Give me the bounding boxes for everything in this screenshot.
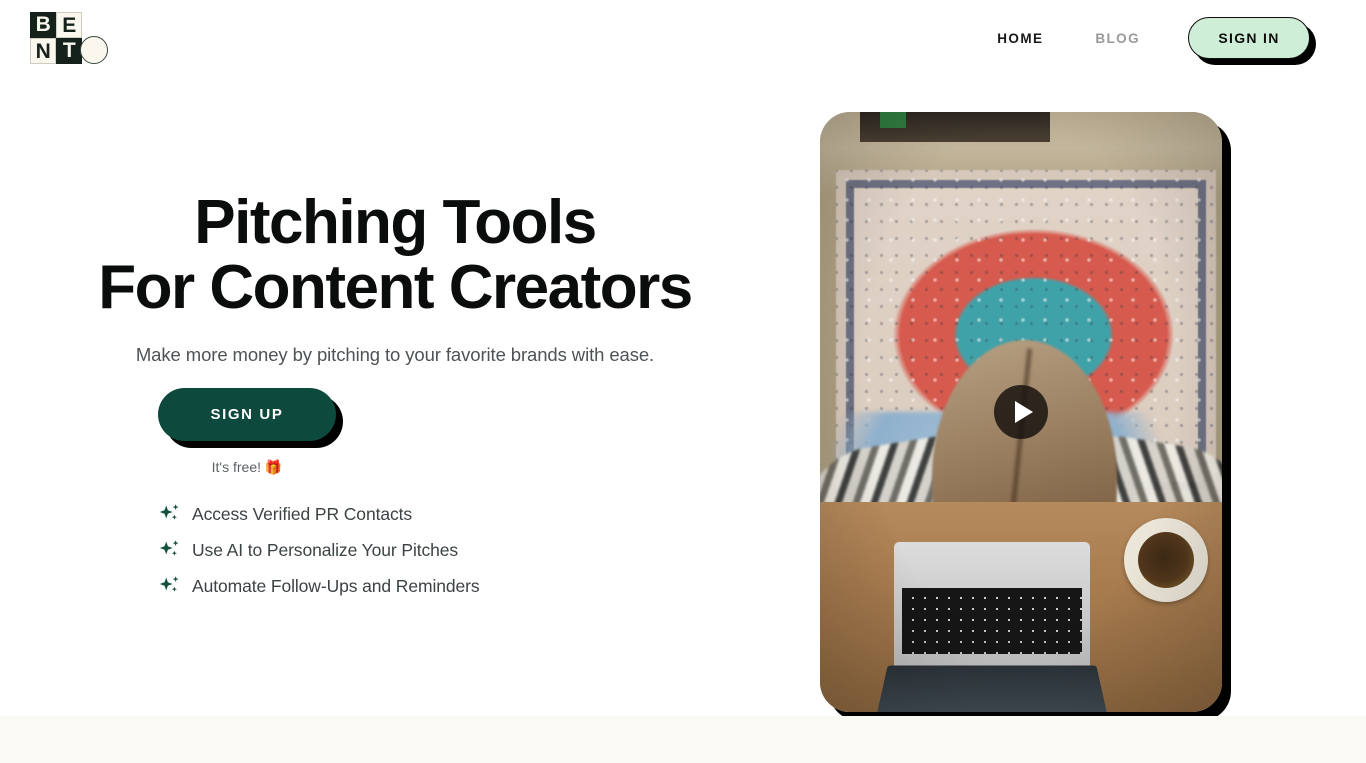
- page-title-line2: For Content Creators: [30, 255, 760, 320]
- hero-subtitle: Make more money by pitching to your favo…: [0, 344, 790, 366]
- main-navigation: HOME BLOG SIGN IN: [997, 0, 1366, 76]
- logo-tile-t: T: [56, 38, 82, 64]
- section-divider-band: [0, 716, 1366, 763]
- hero-video-wrap: [820, 112, 1222, 712]
- feature-label: Automate Follow-Ups and Reminders: [192, 576, 480, 597]
- cta-note: It's free! 🎁: [158, 459, 336, 476]
- feature-label: Access Verified PR Contacts: [192, 504, 412, 525]
- play-triangle: [1015, 401, 1033, 423]
- sign-in-button[interactable]: SIGN IN: [1188, 17, 1310, 59]
- list-item: Access Verified PR Contacts: [158, 496, 618, 532]
- sign-in-button-wrap: SIGN IN: [1188, 17, 1310, 59]
- brand-logo[interactable]: B E N T: [30, 12, 106, 64]
- hero-text-column: Pitching Tools For Content Creators Make…: [0, 190, 790, 366]
- feature-list: Access Verified PR Contacts Use AI to Pe…: [158, 496, 618, 604]
- list-item: Automate Follow-Ups and Reminders: [158, 568, 618, 604]
- feature-label: Use AI to Personalize Your Pitches: [192, 540, 458, 561]
- sparkle-icon: [158, 538, 182, 562]
- play-icon[interactable]: [994, 385, 1048, 439]
- site-header: B E N T HOME BLOG SIGN IN: [0, 0, 1366, 76]
- logo-circle-o: [80, 36, 108, 64]
- cta-block: SIGN UP It's free! 🎁: [158, 388, 336, 476]
- hero-video-thumbnail[interactable]: [820, 112, 1222, 712]
- page-title-line1: Pitching Tools: [194, 188, 596, 257]
- sign-up-button-wrap: SIGN UP: [158, 388, 336, 441]
- sparkle-icon: [158, 502, 182, 526]
- list-item: Use AI to Personalize Your Pitches: [158, 532, 618, 568]
- logo-tile-b: B: [30, 12, 56, 38]
- nav-link-blog[interactable]: BLOG: [1095, 31, 1140, 46]
- sign-up-button[interactable]: SIGN UP: [158, 388, 336, 441]
- nav-link-home[interactable]: HOME: [997, 31, 1043, 46]
- logo-tile-e: E: [56, 12, 82, 38]
- logo-tile-n: N: [30, 38, 56, 64]
- page-title: Pitching Tools For Content Creators: [0, 190, 790, 320]
- sparkle-icon: [158, 574, 182, 598]
